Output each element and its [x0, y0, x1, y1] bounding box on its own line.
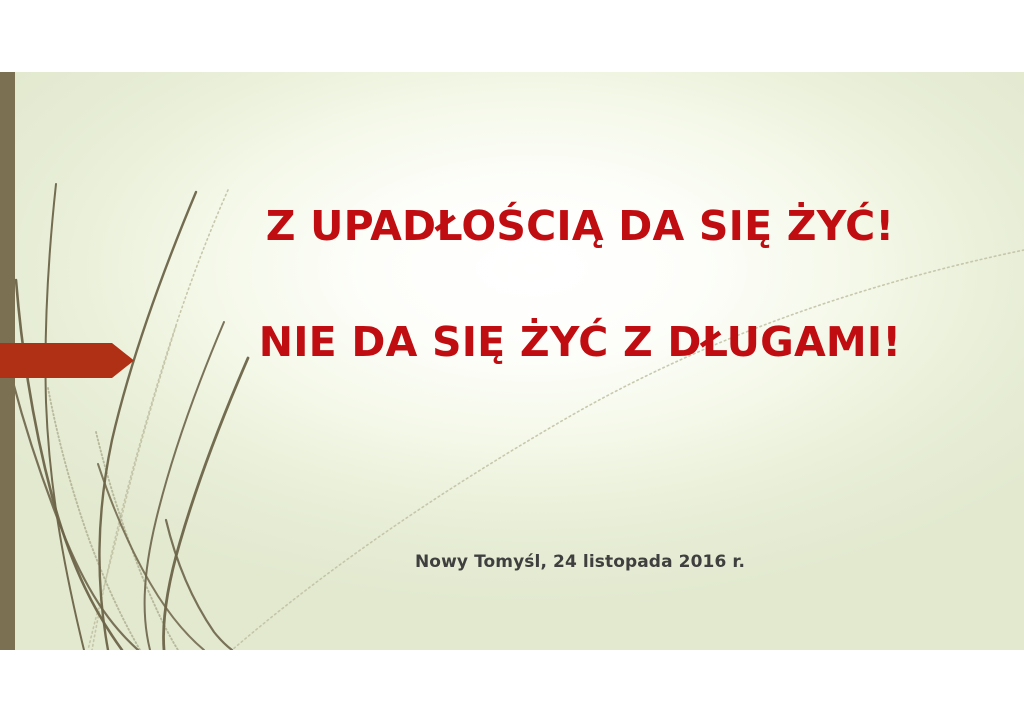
title-line-1: Z UPADŁOŚCIĄ DA SIĘ ŻYĆ!: [180, 197, 980, 255]
slide-subtitle: Nowy Tomyśl, 24 listopada 2016 r.: [180, 552, 980, 572]
title-line-2: NIE DA SIĘ ŻYĆ Z DŁUGAMI!: [180, 313, 980, 371]
title-line-spacer: [180, 255, 980, 313]
slide-subtitle-container: Nowy Tomyśl, 24 listopada 2016 r.: [180, 552, 980, 572]
beaded-strands-secondary: [48, 388, 178, 650]
title-slide: Z UPADŁOŚCIĄ DA SIĘ ŻYĆ! NIE DA SIĘ ŻYĆ …: [0, 72, 1024, 650]
presentation-page: Z UPADŁOŚCIĄ DA SIĘ ŻYĆ! NIE DA SIĘ ŻYĆ …: [0, 0, 1024, 724]
arrow-accent-shape: [0, 343, 134, 378]
slide-title: Z UPADŁOŚCIĄ DA SIĘ ŻYĆ! NIE DA SIĘ ŻYĆ …: [180, 197, 980, 371]
